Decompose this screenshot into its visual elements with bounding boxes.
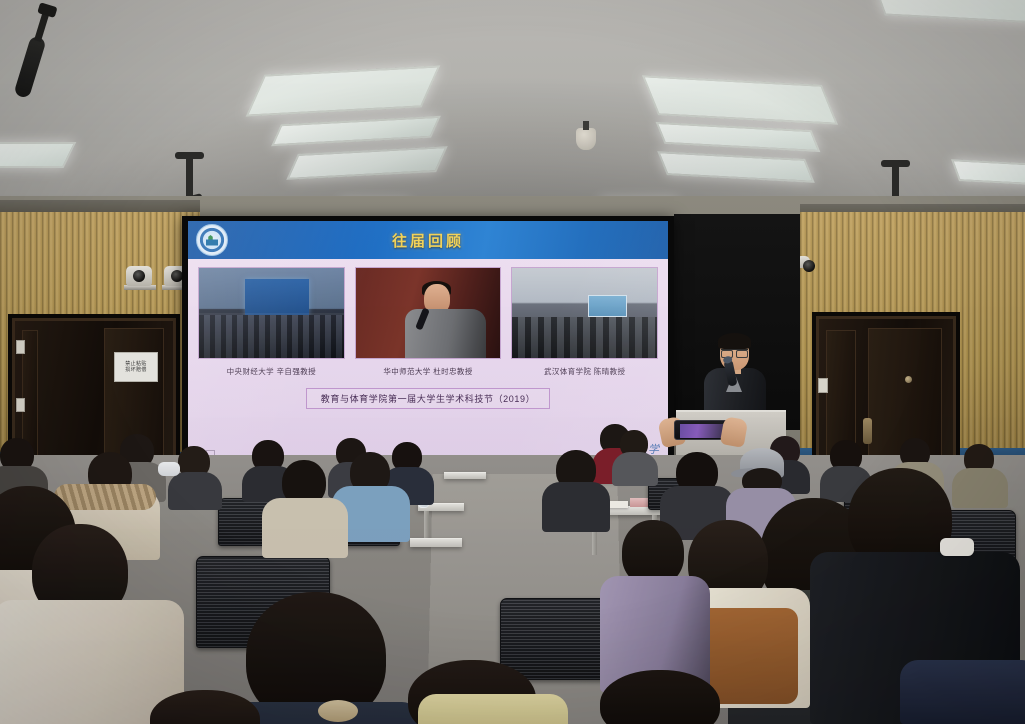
hand-right (720, 416, 748, 448)
slide-thumbnail-item: 中央财经大学 辛自强教授 (198, 267, 345, 377)
slide-thumbnail-item: 华中师范大学 杜时忠教授 (355, 267, 502, 377)
slide-thumbnail-item: 武汉体育学院 陈晴教授 (511, 267, 658, 377)
seat-rows (199, 313, 344, 358)
projection-screen: 往届回顾 中央财经大学 辛自强教授 (188, 221, 668, 460)
door-handle[interactable] (863, 418, 872, 444)
torso (262, 498, 348, 558)
slide-title: 往届回顾 (392, 230, 464, 251)
torso (168, 472, 222, 510)
phone-screen (680, 424, 724, 438)
booklet (630, 498, 650, 507)
door-plate (16, 340, 25, 354)
thumbnail-image-classroom (511, 267, 658, 359)
yellow-coat (418, 694, 568, 724)
slide-body: 中央财经大学 辛自强教授 华中师范大学 杜时忠教授 (188, 259, 668, 460)
notice-sign-line2: 损坏赔偿 (125, 368, 147, 373)
door-plate (16, 398, 25, 412)
thumbnail-image-auditorium (198, 267, 345, 359)
torso (952, 468, 1008, 508)
ceiling-shading (0, 0, 1025, 215)
speaker-body (405, 309, 486, 358)
hair-tie (318, 700, 358, 722)
lecture-hall-photo: 禁止粘贴 损坏赔偿 往届回顾 (0, 0, 1025, 724)
slide-thumbnail-row: 中央财经大学 辛自强教授 华中师范大学 杜时忠教授 (198, 267, 658, 377)
thumbnail-caption: 武汉体育学院 陈晴教授 (511, 366, 658, 377)
attendee-filming (660, 418, 746, 448)
ptz-camera-icon (126, 266, 152, 286)
door-knob-icon[interactable] (905, 376, 912, 383)
navy-coat (900, 660, 1025, 724)
desk (410, 538, 462, 547)
thumbnail-image-speaker (355, 267, 502, 359)
crumpled-tissue (940, 538, 974, 556)
notice-sign-line1: 禁止粘贴 (125, 362, 147, 367)
glasses-icon (721, 349, 748, 355)
ceiling-speaker-icon (576, 128, 596, 150)
notice-sign: 禁止粘贴 损坏赔偿 (114, 352, 158, 382)
fur-trim (54, 484, 156, 510)
torso (612, 452, 658, 486)
speaker-hair (718, 333, 751, 349)
slide-footer: 教育与体育学院第一届大学生学术科技节（2019） (198, 388, 658, 409)
desk (444, 472, 486, 479)
attendee-orange (596, 333, 608, 353)
face-mask-icon (158, 462, 180, 476)
university-emblem-icon (196, 224, 228, 256)
torso (542, 482, 610, 532)
thumbnail-caption: 中央财经大学 辛自强教授 (198, 366, 345, 377)
projection-screen-frame: 往届回顾 中央财经大学 辛自强教授 (182, 216, 674, 464)
thumbnail-caption: 华中师范大学 杜时忠教授 (355, 366, 502, 377)
door-plate (818, 378, 828, 393)
slide-header: 往届回顾 (188, 221, 668, 259)
slide-footer-text: 教育与体育学院第一届大学生学术科技节（2019） (306, 388, 550, 409)
